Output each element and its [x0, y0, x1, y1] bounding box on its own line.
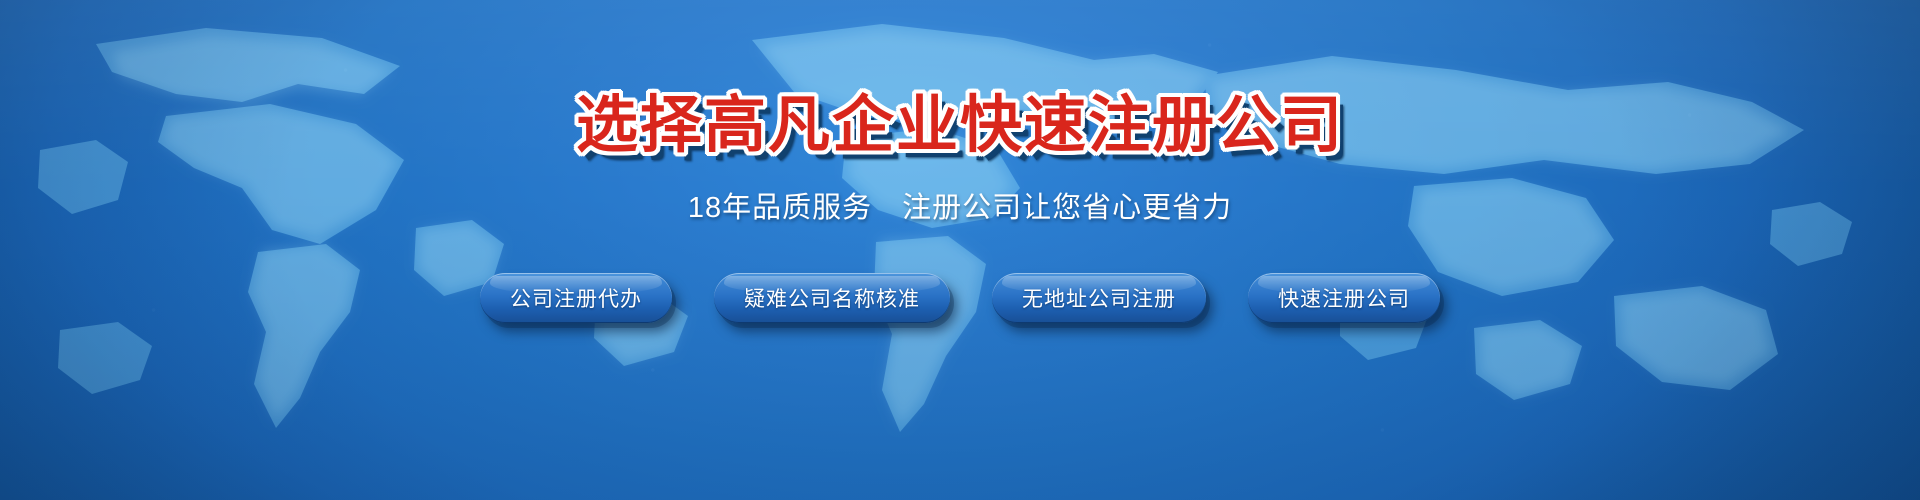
service-button-difficult-name-approval[interactable]: 疑难公司名称核准 — [714, 273, 950, 323]
service-button-label: 快速注册公司 — [1278, 283, 1410, 313]
promo-banner: 选择高凡企业快速注册公司 18年品质服务 注册公司让您省心更省力 公司注册代办 … — [0, 0, 1920, 500]
service-button-no-address-registration[interactable]: 无地址公司注册 — [992, 273, 1206, 323]
banner-subheadline: 18年品质服务 注册公司让您省心更省力 — [688, 184, 1232, 226]
service-button-label: 疑难公司名称核准 — [744, 283, 920, 313]
service-button-row: 公司注册代办 疑难公司名称核准 无地址公司注册 快速注册公司 — [480, 273, 1440, 323]
service-button-company-registration-agency[interactable]: 公司注册代办 — [480, 273, 672, 323]
banner-headline: 选择高凡企业快速注册公司 — [576, 95, 1344, 157]
service-button-label: 无地址公司注册 — [1022, 283, 1176, 313]
service-button-label: 公司注册代办 — [510, 283, 642, 313]
service-button-fast-registration[interactable]: 快速注册公司 — [1248, 273, 1440, 323]
banner-content: 选择高凡企业快速注册公司 18年品质服务 注册公司让您省心更省力 公司注册代办 … — [0, 0, 1920, 500]
